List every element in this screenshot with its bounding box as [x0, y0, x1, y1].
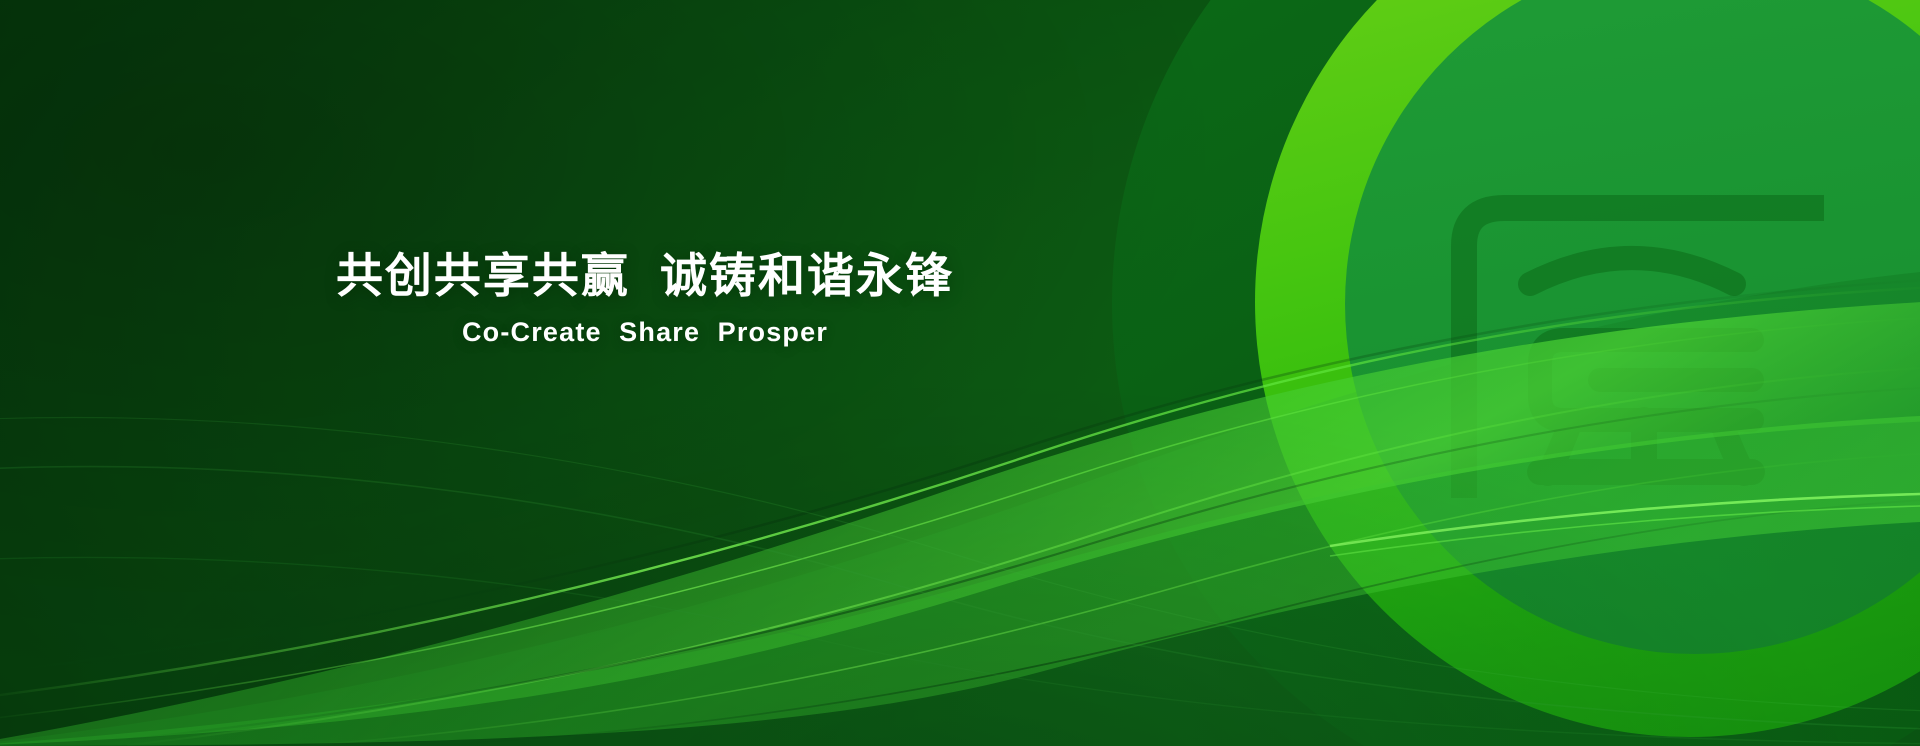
- background-vignette: [0, 0, 1920, 746]
- banner-subtitle: Co-Create Share Prosper: [0, 317, 1290, 348]
- banner-headline: 共创共享共赢 诚铸和谐永锋: [0, 248, 1290, 303]
- banner-copy-block: 共创共享共赢 诚铸和谐永锋 Co-Create Share Prosper: [0, 248, 1290, 348]
- hero-banner: 共创共享共赢 诚铸和谐永锋 Co-Create Share Prosper: [0, 0, 1920, 746]
